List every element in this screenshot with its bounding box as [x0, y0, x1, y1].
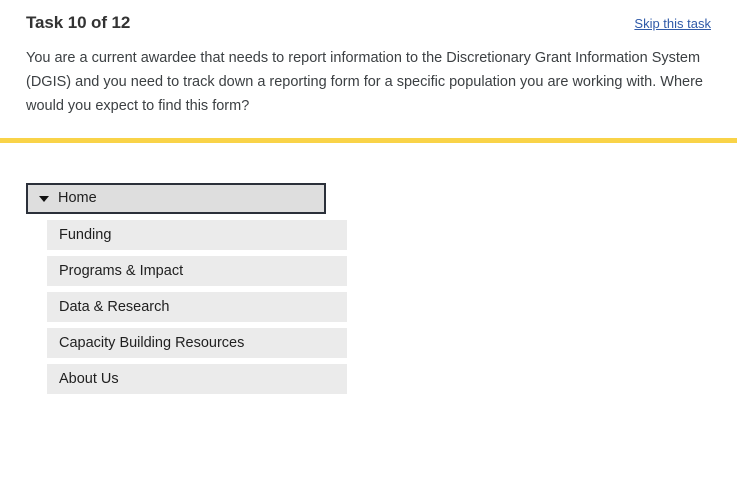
tree-item-home-label: Home	[58, 191, 97, 206]
tree-item-programs-impact-label: Programs & Impact	[47, 264, 183, 279]
page-title: Task 10 of 12	[26, 12, 130, 34]
tree-item-data-research[interactable]: Data & Research	[47, 292, 347, 322]
tree-item-home[interactable]: Home	[26, 183, 326, 214]
tree-item-capacity-building-resources[interactable]: Capacity Building Resources	[47, 328, 347, 358]
tree-children-list: Funding Programs & Impact Data & Researc…	[0, 220, 737, 394]
tree-navigation: Home Funding Programs & Impact Data & Re…	[0, 183, 737, 394]
tree-item-data-research-label: Data & Research	[47, 300, 169, 315]
yellow-divider	[0, 138, 737, 143]
tree-item-about-us-label: About Us	[47, 372, 119, 387]
task-prompt-text: You are a current awardee that needs to …	[26, 46, 711, 118]
tree-item-programs-impact[interactable]: Programs & Impact	[47, 256, 347, 286]
tree-item-about-us[interactable]: About Us	[47, 364, 347, 394]
tree-item-capacity-building-resources-label: Capacity Building Resources	[47, 336, 244, 351]
tree-item-funding-label: Funding	[47, 228, 111, 243]
skip-this-task-link[interactable]: Skip this task	[634, 12, 711, 33]
task-header-row: Task 10 of 12 Skip this task	[26, 0, 711, 34]
caret-down-icon	[39, 196, 49, 202]
task-header: Task 10 of 12 Skip this task You are a c…	[0, 0, 737, 118]
tree-item-funding[interactable]: Funding	[47, 220, 347, 250]
